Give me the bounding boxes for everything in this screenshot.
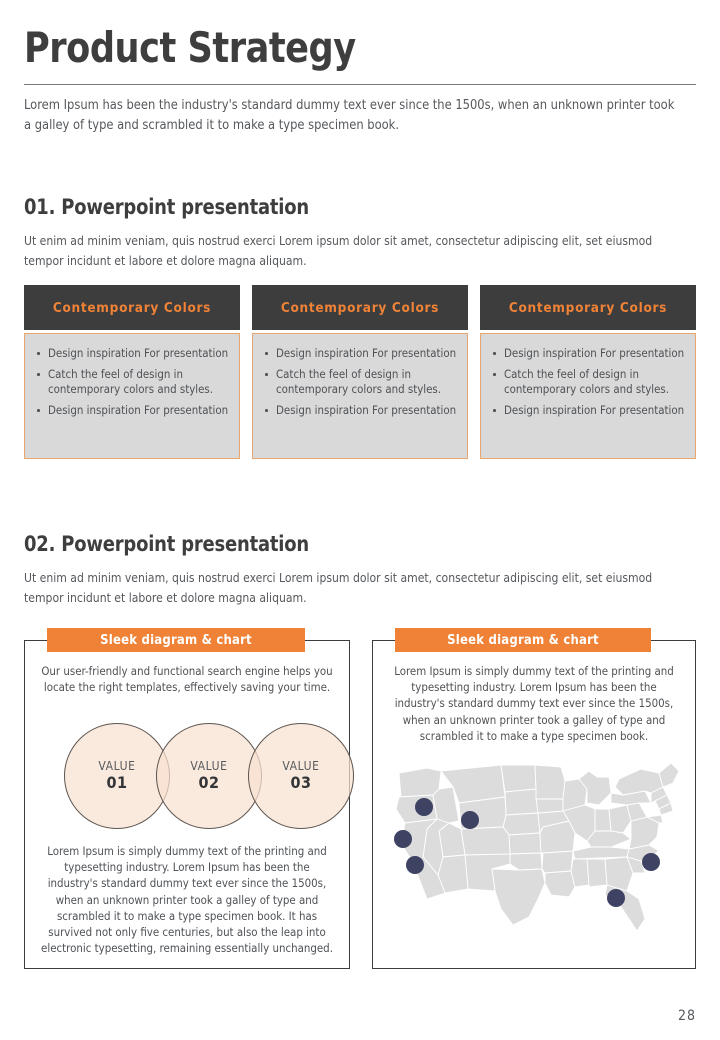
venn-circle-02[interactable]: VALUE 02 — [156, 723, 262, 829]
slide: Product Strategy Lorem Ipsum has been th… — [0, 0, 720, 1040]
map-states — [396, 763, 679, 931]
venn-panel-bottom-text-wrap: Lorem Ipsum is simply dummy text of the … — [25, 843, 349, 956]
map-panel: Lorem Ipsum is simply dummy text of the … — [372, 640, 696, 969]
section-heading-02: 02. Powerpoint presentation — [24, 532, 309, 556]
contemporary-colors-card[interactable]: Contemporary Colors Design inspiration F… — [252, 285, 468, 459]
title-divider — [24, 84, 696, 85]
card-bullet-list: Design inspiration For presentation Catc… — [35, 346, 229, 418]
list-item: Design inspiration For presentation — [491, 403, 685, 418]
venn-circle-03[interactable]: VALUE 03 — [248, 723, 354, 829]
contemporary-colors-card-group: Contemporary Colors Design inspiration F… — [24, 285, 696, 469]
venn-circle-number: 01 — [106, 774, 127, 792]
map-panel-header: Sleek diagram & chart — [395, 628, 651, 652]
card-header: Contemporary Colors — [24, 285, 240, 330]
page-number: 28 — [678, 1008, 696, 1024]
card-title: Contemporary Colors — [53, 300, 211, 316]
list-item: Design inspiration For presentation — [35, 403, 229, 418]
venn-circle-caption: VALUE — [190, 760, 227, 774]
us-map[interactable] — [383, 759, 685, 937]
list-item: Design inspiration For presentation — [491, 346, 685, 361]
section-heading-01: 01. Powerpoint presentation — [24, 195, 309, 219]
map-marker — [607, 889, 625, 907]
section-body-01: Ut enim ad minim veniam, quis nostrud ex… — [24, 231, 685, 271]
venn-panel-bottom-text: Lorem Ipsum is simply dummy text of the … — [41, 843, 333, 956]
map-marker — [394, 830, 412, 848]
card-bullet-list: Design inspiration For presentation Catc… — [491, 346, 685, 418]
venn-diagram-panel: Our user-friendly and functional search … — [24, 640, 350, 969]
list-item: Catch the feel of design in contemporary… — [491, 367, 685, 397]
card-bullet-list: Design inspiration For presentation Catc… — [263, 346, 457, 418]
section-body-02: Ut enim ad minim veniam, quis nostrud ex… — [24, 568, 685, 608]
map-panel-title: Sleek diagram & chart — [447, 633, 599, 648]
map-marker — [406, 856, 424, 874]
contemporary-colors-card[interactable]: Contemporary Colors Design inspiration F… — [24, 285, 240, 459]
page-title: Product Strategy — [24, 24, 356, 71]
venn-panel-header: Sleek diagram & chart — [47, 628, 305, 652]
map-panel-text-wrap: Lorem Ipsum is simply dummy text of the … — [373, 663, 695, 744]
venn-circle-caption: VALUE — [98, 760, 135, 774]
card-header: Contemporary Colors — [480, 285, 696, 330]
map-marker — [642, 853, 660, 871]
venn-circle-group: VALUE 01 VALUE 02 VALUE 03 — [25, 723, 349, 839]
list-item: Design inspiration For presentation — [263, 403, 457, 418]
contemporary-colors-card[interactable]: Contemporary Colors Design inspiration F… — [480, 285, 696, 459]
list-item: Catch the feel of design in contemporary… — [35, 367, 229, 397]
card-body: Design inspiration For presentation Catc… — [252, 333, 468, 459]
venn-circle-number: 03 — [290, 774, 311, 792]
map-marker — [461, 811, 479, 829]
venn-circle-01[interactable]: VALUE 01 — [64, 723, 170, 829]
card-title: Contemporary Colors — [281, 300, 439, 316]
card-header: Contemporary Colors — [252, 285, 468, 330]
list-item: Design inspiration For presentation — [263, 346, 457, 361]
card-body: Design inspiration For presentation Catc… — [24, 333, 240, 459]
card-body: Design inspiration For presentation Catc… — [480, 333, 696, 459]
card-title: Contemporary Colors — [509, 300, 667, 316]
venn-panel-title: Sleek diagram & chart — [100, 633, 252, 648]
map-marker — [415, 798, 433, 816]
list-item: Design inspiration For presentation — [35, 346, 229, 361]
venn-circle-number: 02 — [198, 774, 219, 792]
us-map-svg — [383, 759, 685, 937]
venn-panel-top-text: Our user-friendly and functional search … — [41, 663, 333, 695]
venn-circle-caption: VALUE — [282, 760, 319, 774]
map-panel-text: Lorem Ipsum is simply dummy text of the … — [389, 663, 679, 744]
list-item: Catch the feel of design in contemporary… — [263, 367, 457, 397]
intro-paragraph: Lorem Ipsum has been the industry's stan… — [24, 96, 680, 137]
venn-panel-top-text-wrap: Our user-friendly and functional search … — [25, 663, 349, 695]
